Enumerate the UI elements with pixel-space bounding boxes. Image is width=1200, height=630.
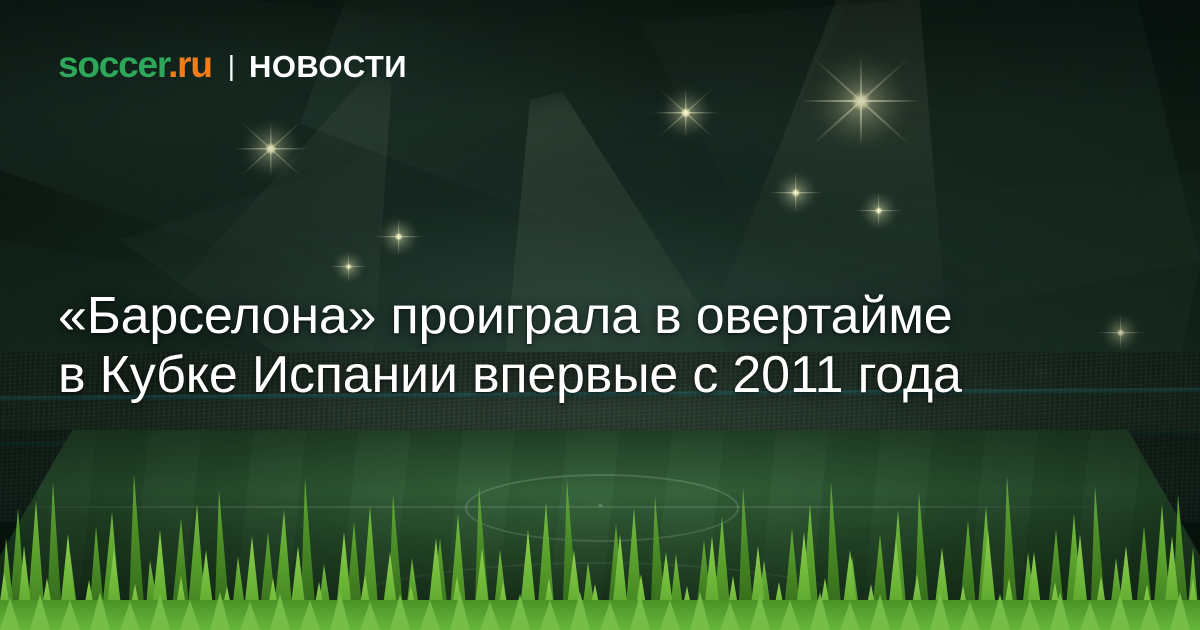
page-title: «Барселона» проиграла в овертайме в Кубк… <box>58 287 1168 405</box>
logo-text-green: soccer <box>58 44 168 85</box>
soccer-ru-logo[interactable]: soccer.ru <box>58 46 212 83</box>
header-divider: | <box>228 50 235 82</box>
logo-text-orange: .ru <box>168 44 212 85</box>
headline-line-1: «Барселона» проиграла в овертайме <box>58 287 1168 346</box>
section-label-news: НОВОСТИ <box>249 51 407 82</box>
foreground-grass <box>0 460 1200 630</box>
site-header: soccer.ru | НОВОСТИ <box>58 46 407 84</box>
headline-line-2: в Кубке Испании впервые с 2011 года <box>58 346 1168 405</box>
news-share-card: soccer.ru | НОВОСТИ «Барселона» проиграл… <box>0 0 1200 630</box>
